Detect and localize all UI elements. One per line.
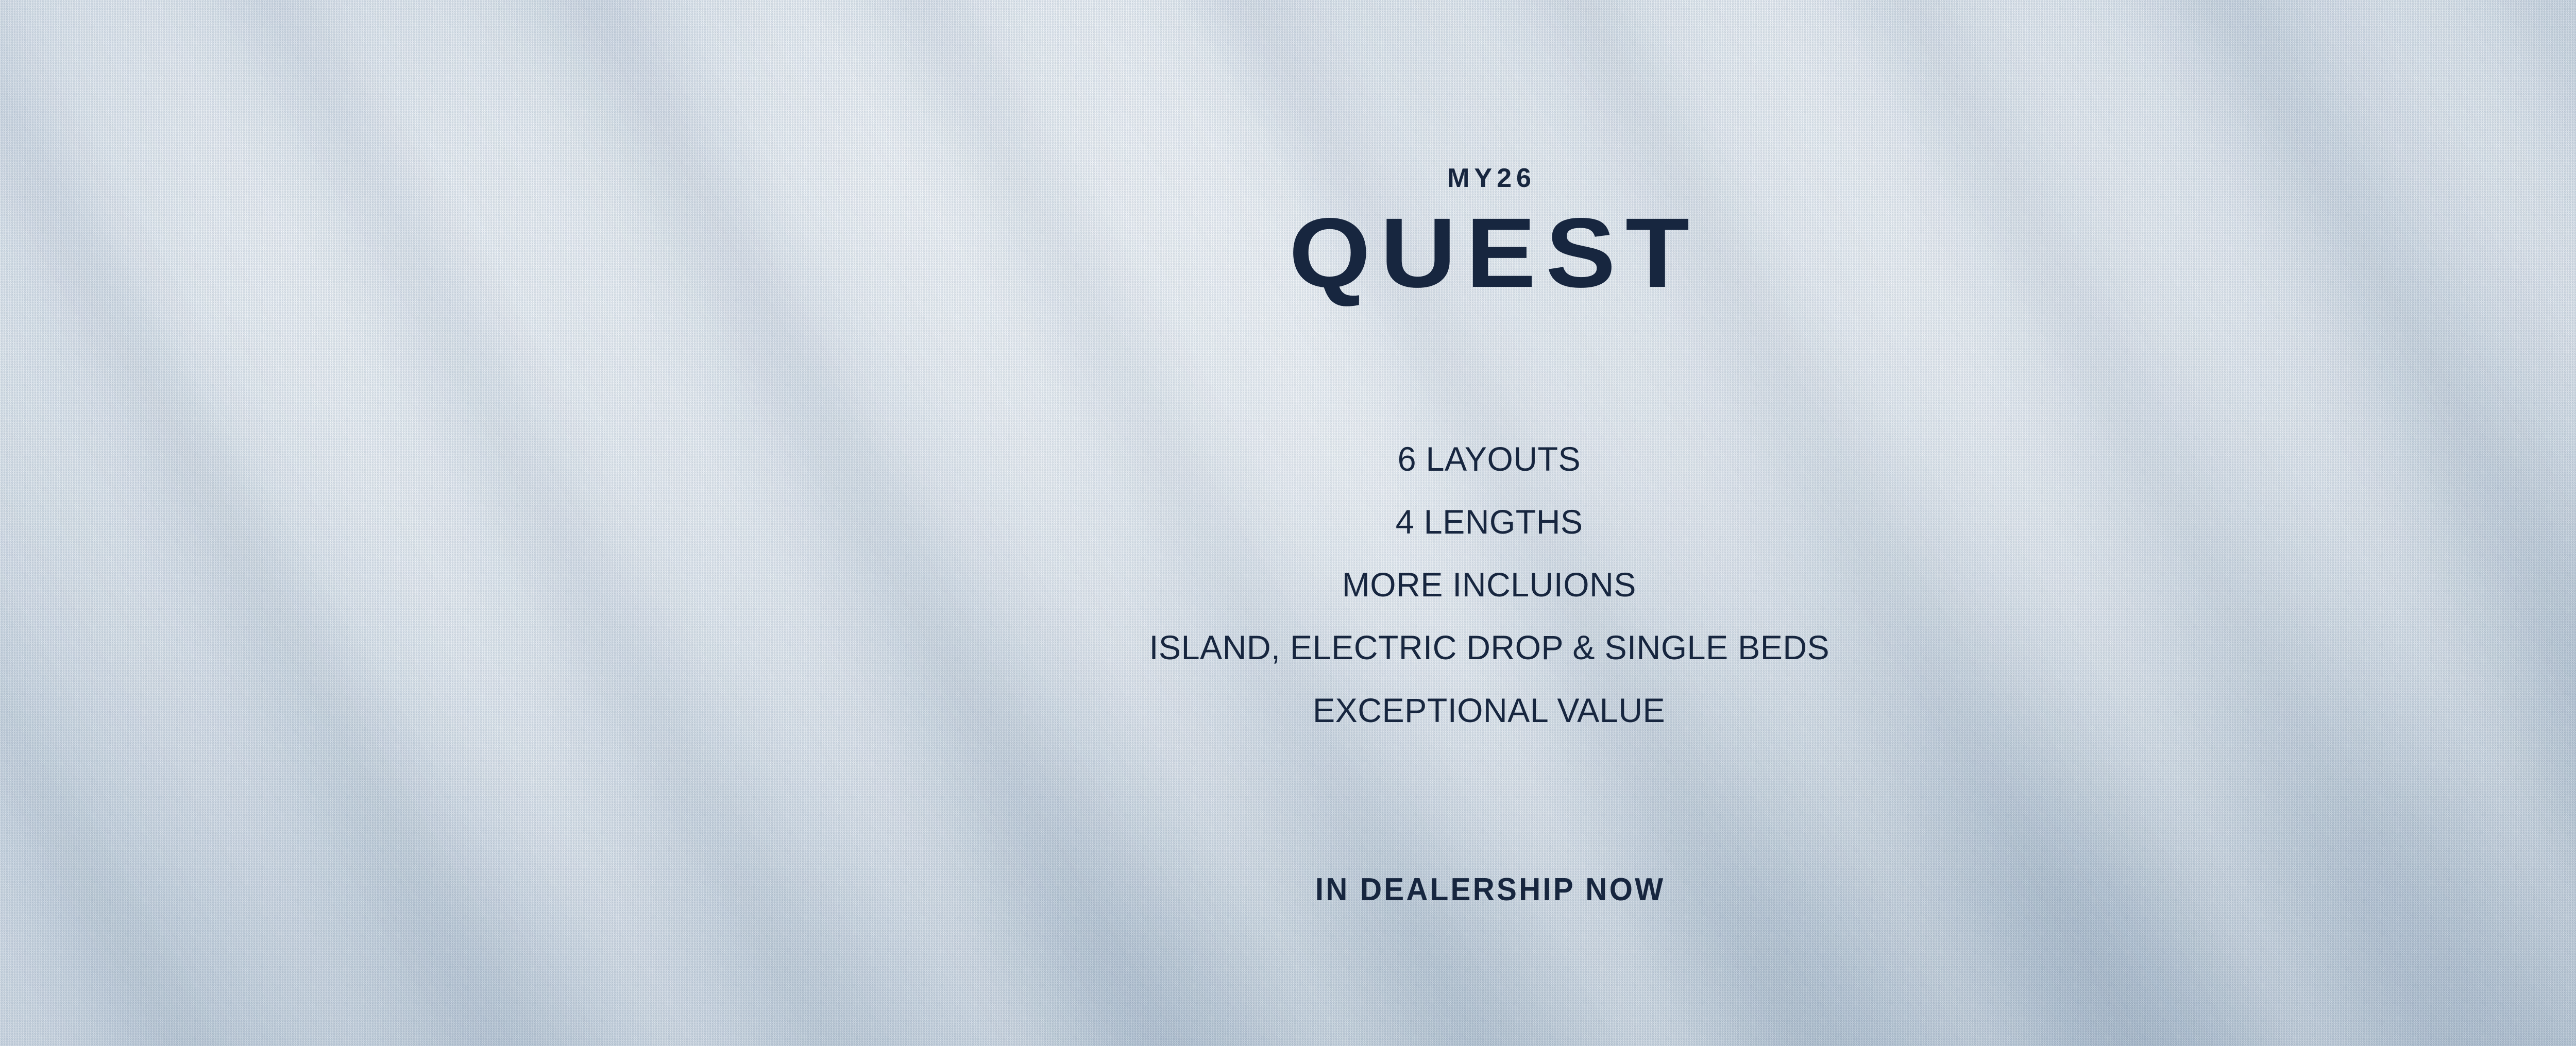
model-year-eyebrow: MY26 bbox=[0, 165, 2576, 192]
feature-line: EXCEPTIONAL VALUE bbox=[1313, 679, 1665, 742]
feature-list: 6 LAYOUTS 4 LENGTHS MORE INCLUIONS ISLAN… bbox=[0, 427, 2576, 742]
promo-banner: MY26 QUEST 6 LAYOUTS 4 LENGTHS MORE INCL… bbox=[0, 0, 2576, 1046]
banner-content: MY26 QUEST 6 LAYOUTS 4 LENGTHS MORE INCL… bbox=[0, 0, 2576, 1046]
feature-line: 4 LENGTHS bbox=[1396, 490, 1583, 553]
product-wordmark: QUEST bbox=[0, 203, 2576, 302]
feature-line: 6 LAYOUTS bbox=[1398, 427, 1581, 490]
feature-line: ISLAND, ELECTRIC DROP & SINGLE BEDS bbox=[1149, 616, 1829, 679]
availability-callout: IN DEALERSHIP NOW bbox=[89, 874, 2576, 906]
feature-line: MORE INCLUIONS bbox=[1342, 553, 1636, 616]
